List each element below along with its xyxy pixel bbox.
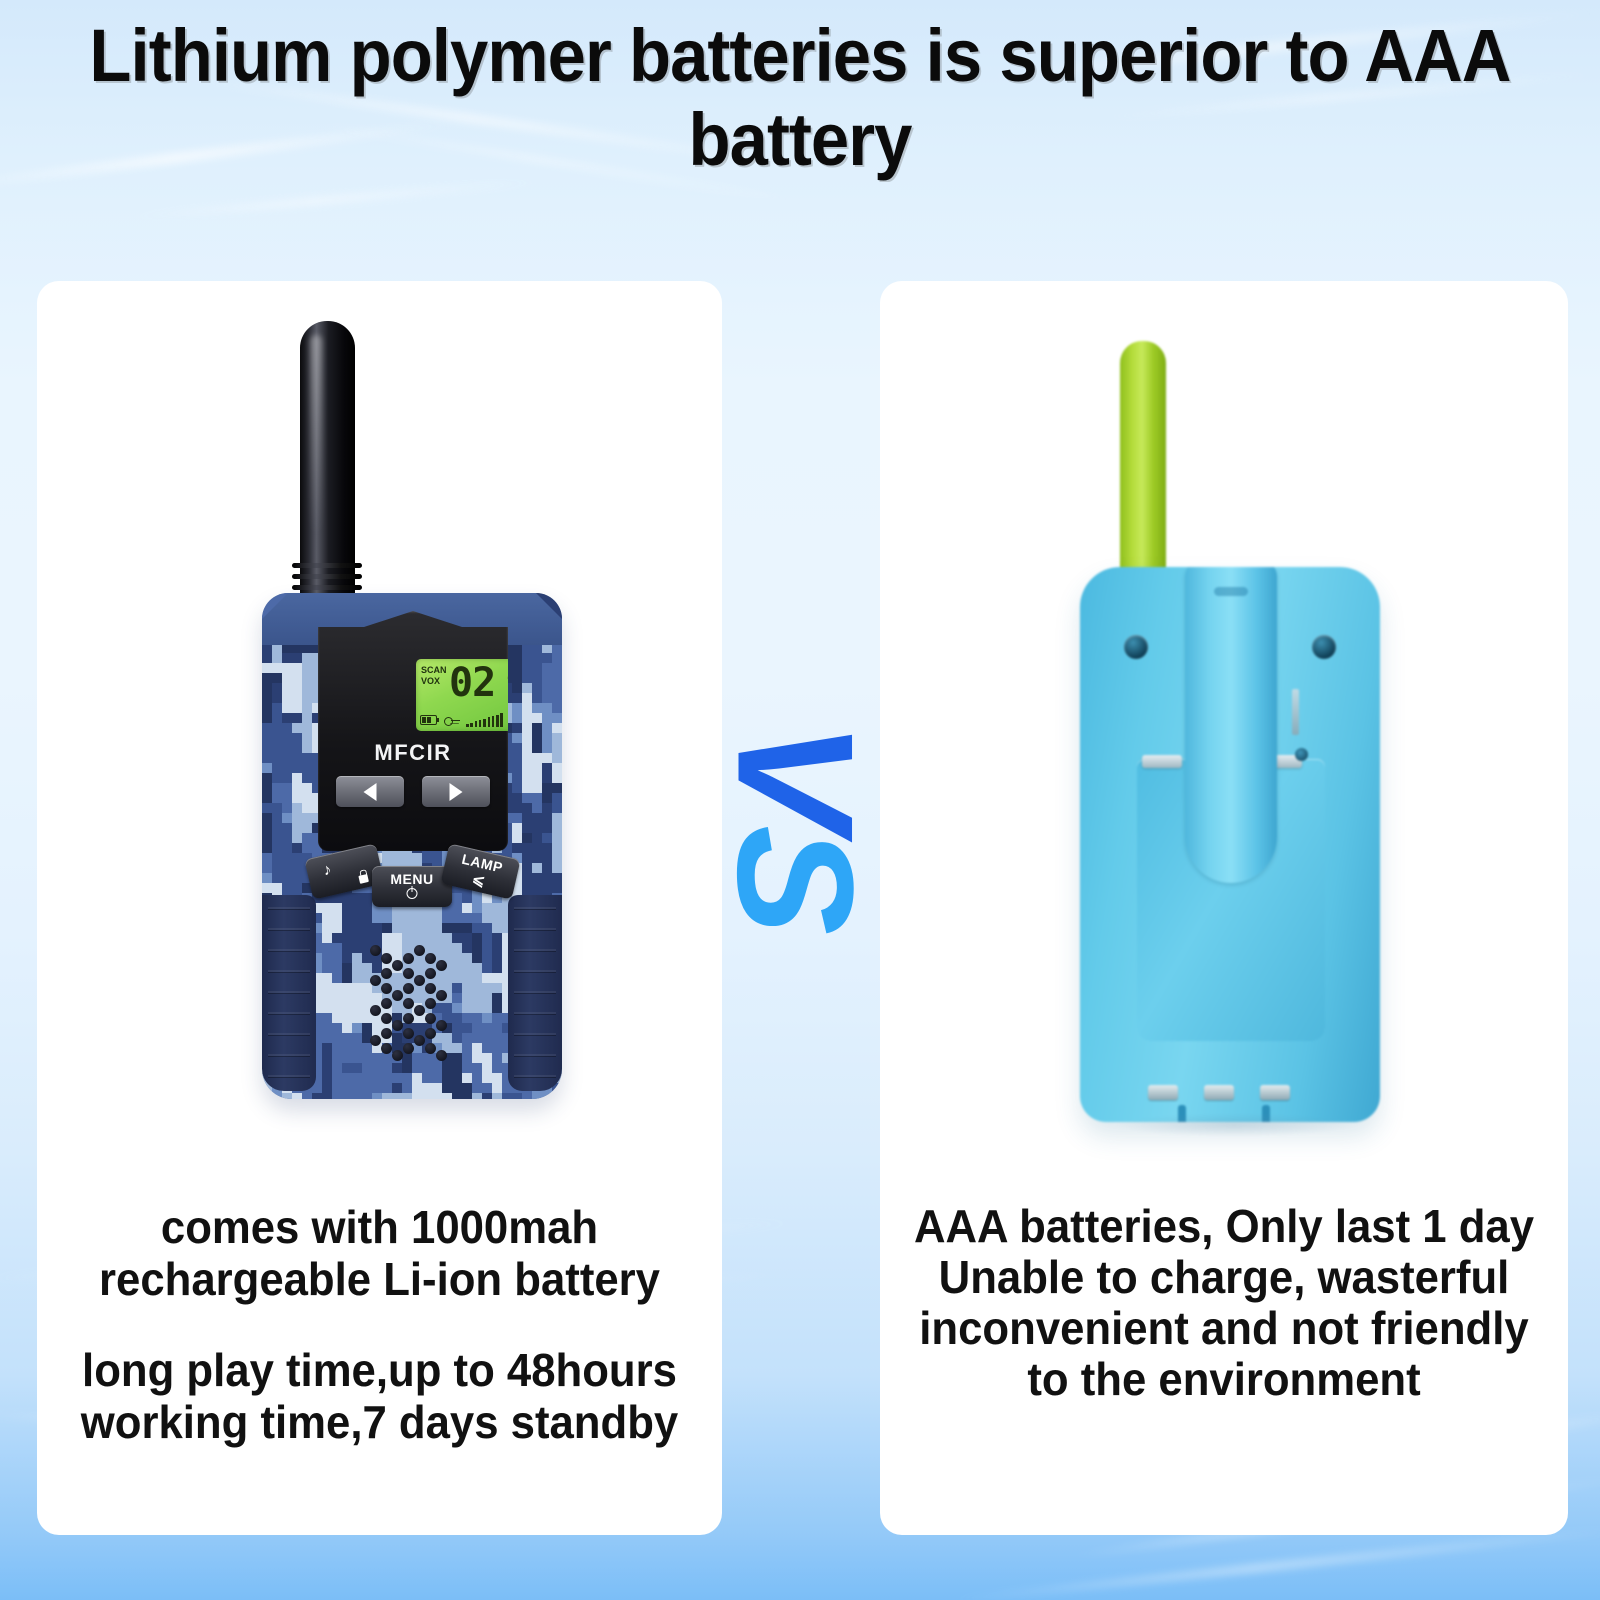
- lcd-scan-label: SCAN: [421, 665, 447, 676]
- camo-walkie-talkie-image: SCAN VOX 02 10: [262, 321, 562, 1111]
- metal-strip: [1292, 689, 1299, 735]
- cloud-streak-icon: [121, 177, 550, 221]
- side-grip-right: [508, 895, 562, 1091]
- right-arrow-button[interactable]: [422, 776, 490, 807]
- device-body-back: [1080, 567, 1380, 1122]
- versus-label: VS: [713, 721, 878, 929]
- lock-icon: [358, 874, 369, 884]
- screw-icon: [1312, 635, 1336, 659]
- belt-clip: [1185, 567, 1277, 883]
- latch-icon: [1142, 755, 1182, 768]
- side-grip-left: [262, 895, 316, 1091]
- versus-s-letter: S: [704, 825, 888, 929]
- lcd-mode-labels: SCAN VOX: [421, 665, 447, 687]
- device-body: SCAN VOX 02 10: [262, 593, 562, 1099]
- right-product-card: AAA batteries, Only last 1 dayUnable to …: [880, 281, 1568, 1535]
- power-icon: [407, 888, 418, 899]
- page-title: Lithium polymer batteries is superior to…: [56, 14, 1544, 182]
- brand-label: MFCIR: [318, 740, 508, 766]
- device-shadow: [1114, 1113, 1354, 1137]
- screw-icon: [1124, 635, 1148, 659]
- lcd-channel-value: 02: [449, 662, 495, 704]
- key-lock-icon: [444, 717, 460, 724]
- signal-bars-icon: [466, 712, 506, 727]
- pin-icon: [1295, 748, 1308, 761]
- antenna-icon: [1120, 341, 1166, 591]
- battery-contacts: [1148, 1074, 1318, 1104]
- left-caption-secondary: long play time,up to 48hoursworking time…: [54, 1344, 705, 1448]
- blue-walkie-talkie-image: [1080, 341, 1380, 1131]
- music-note-icon: ♪: [321, 861, 333, 880]
- versus-v-letter: V: [704, 721, 888, 825]
- lcd-vox-label: VOX: [421, 676, 447, 687]
- speaker-grille: [362, 945, 462, 1065]
- right-caption-primary: AAA batteries, Only last 1 dayUnable to …: [897, 1201, 1551, 1405]
- menu-button-label: MENU: [372, 871, 452, 887]
- left-caption-primary: comes with 1000mahrechargeable Li-ion ba…: [54, 1201, 705, 1305]
- device-faceplate: SCAN VOX 02 10: [318, 611, 508, 851]
- versus-divider: VS: [700, 700, 890, 950]
- left-product-card: SCAN VOX 02 10: [37, 281, 722, 1535]
- battery-icon: [420, 715, 437, 725]
- left-arrow-button[interactable]: [336, 776, 404, 807]
- menu-power-button[interactable]: MENU: [372, 866, 452, 907]
